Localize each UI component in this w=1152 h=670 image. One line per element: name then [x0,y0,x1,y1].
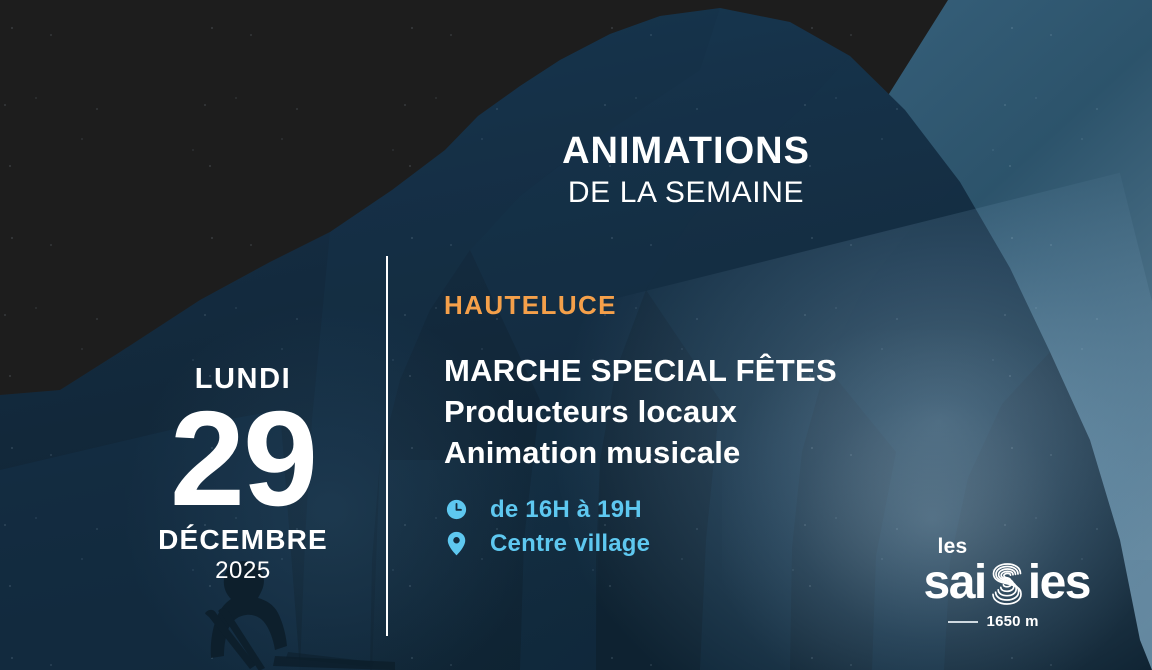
logo-altitude-text: 1650 m [987,613,1039,630]
event-time-text: de 16H à 19H [490,496,642,524]
spiral-s-icon [987,562,1027,606]
event-location-text: Centre village [490,530,650,558]
event-time-row: de 16H à 19H [444,493,1064,527]
header-title-primary: ANIMATIONS [386,132,986,170]
logo-wordmark: sai ies [924,559,1090,607]
clock-icon [444,499,468,520]
event-title-line-3: Animation musicale [444,433,1064,474]
event-title-line-2: Producteurs locaux [444,392,1064,433]
date-month: DÉCEMBRE [100,526,386,554]
logo-word-part-2: ies [1028,559,1090,607]
logo-word-part-1: sai [924,559,986,607]
logo-prefix: les [938,536,1090,557]
event-poster: ANIMATIONS DE LA SEMAINE LUNDI 29 DÉCEMB… [0,0,1152,670]
date-year: 2025 [100,559,386,583]
header-title-secondary: DE LA SEMAINE [386,178,986,208]
logo-altitude: 1650 m [948,613,1090,630]
event-title-line-1: MARCHE SPECIAL FÊTES [444,351,1064,392]
les-saisies-logo: les sai ies 1650 m [924,536,1090,630]
event-title-group: MARCHE SPECIAL FÊTES Producteurs locaux … [444,351,1064,474]
date-block: LUNDI 29 DÉCEMBRE 2025 [100,365,386,583]
event-details: HAUTELUCE MARCHE SPECIAL FÊTES Producteu… [444,292,1064,561]
vertical-divider [386,256,388,636]
poster-header: ANIMATIONS DE LA SEMAINE [386,132,986,208]
date-day-number: 29 [100,396,386,522]
map-pin-icon [444,531,468,556]
logo-dash-icon [948,621,978,623]
event-town: HAUTELUCE [444,292,1064,318]
